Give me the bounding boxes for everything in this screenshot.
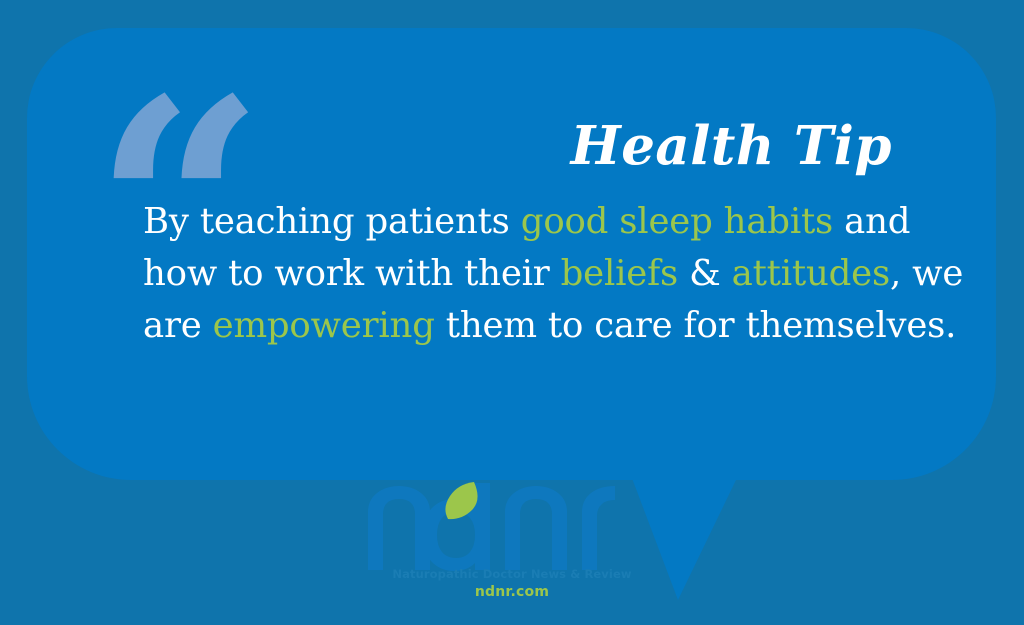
quote-segment-1: good sleep habits bbox=[521, 201, 833, 242]
quote-segment-8: them to care for themselves. bbox=[435, 305, 957, 346]
ndnr-wordmark bbox=[366, 478, 658, 573]
quote-segment-0: By teaching patients bbox=[143, 201, 521, 242]
quote-text: By teaching patients good sleep habits a… bbox=[143, 196, 973, 352]
logo-url: ndnr.com bbox=[366, 584, 658, 600]
logo-tagline: Naturopathic Doctor News & Review bbox=[366, 567, 658, 581]
speech-bubble: “ Health Tip By teaching patients good s… bbox=[27, 28, 996, 480]
ndnr-logo: Naturopathic Doctor News & Review ndnr.c… bbox=[366, 478, 658, 618]
quote-segment-4: & bbox=[678, 253, 732, 294]
page-title: Health Tip bbox=[571, 120, 892, 173]
quote-segment-3: beliefs bbox=[561, 253, 678, 294]
graphic-canvas: “ Health Tip By teaching patients good s… bbox=[0, 0, 1024, 625]
quote-segment-7: empowering bbox=[213, 305, 435, 346]
quote-segment-5: attitudes bbox=[732, 253, 890, 294]
